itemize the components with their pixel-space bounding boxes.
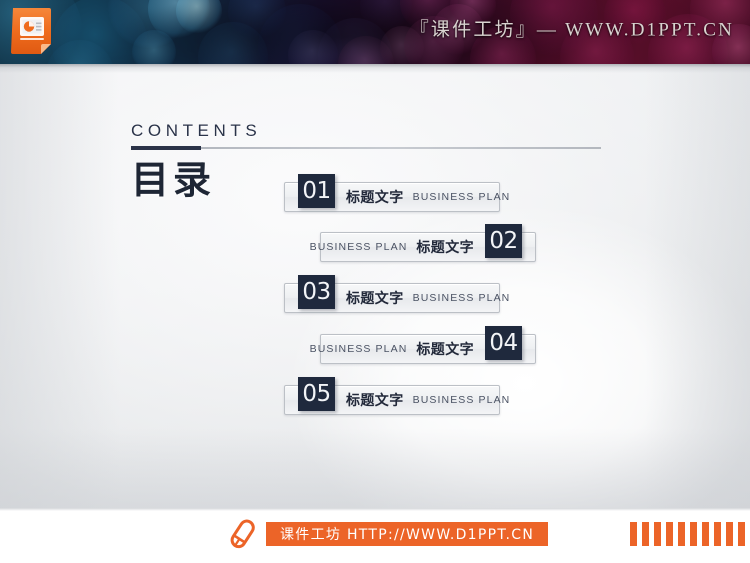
item-title-en: BUSINESS PLAN bbox=[310, 343, 408, 355]
item-title-en: BUSINESS PLAN bbox=[310, 241, 408, 253]
item-title-cn: 标题文字 bbox=[346, 187, 404, 207]
footer-stripe-pattern bbox=[630, 522, 750, 546]
item-title-cn: 标题文字 bbox=[346, 288, 404, 308]
item-title-en: BUSINESS PLAN bbox=[413, 191, 511, 203]
item-labels: 标题文字 BUSINESS PLAN bbox=[346, 182, 510, 212]
footer-top-edge bbox=[0, 508, 750, 511]
item-labels: 标题文字 BUSINESS PLAN bbox=[346, 385, 510, 415]
contents-item-05[interactable]: 05 标题文字 BUSINESS PLAN bbox=[284, 385, 500, 415]
presentation-slide: 『课件工坊』— WWW.D1PPT.CN CONTENTS 目录 01 标题文字… bbox=[0, 0, 750, 563]
item-title-cn: 标题文字 bbox=[416, 339, 474, 359]
footer-bar: 课件工坊 HTTP://WWW.D1PPT.CN bbox=[0, 508, 750, 563]
heading-divider-line bbox=[131, 147, 601, 149]
item-number-badge: 02 bbox=[485, 224, 522, 258]
contents-list: 01 标题文字 BUSINESS PLAN 02 BUSINESS PLAN 标… bbox=[0, 182, 750, 442]
item-labels: 标题文字 BUSINESS PLAN bbox=[346, 283, 510, 313]
contents-item-01[interactable]: 01 标题文字 BUSINESS PLAN bbox=[284, 182, 500, 212]
heading-divider bbox=[131, 146, 601, 150]
slide-body: CONTENTS 目录 01 标题文字 BUSINESS PLAN 02 bbox=[0, 64, 750, 508]
banner-drop-shadow bbox=[0, 64, 750, 73]
item-number-badge: 05 bbox=[298, 377, 335, 411]
item-title-en: BUSINESS PLAN bbox=[413, 292, 511, 304]
top-banner: 『课件工坊』— WWW.D1PPT.CN bbox=[0, 0, 750, 64]
contents-item-04[interactable]: 04 BUSINESS PLAN 标题文字 bbox=[320, 334, 536, 364]
item-number-badge: 01 bbox=[298, 174, 335, 208]
heading-divider-accent bbox=[131, 146, 201, 150]
powerpoint-logo-icon[interactable] bbox=[10, 6, 60, 58]
item-labels: BUSINESS PLAN 标题文字 bbox=[310, 232, 474, 262]
item-title-en: BUSINESS PLAN bbox=[413, 394, 511, 406]
item-number-badge: 04 bbox=[485, 326, 522, 360]
item-title-cn: 标题文字 bbox=[346, 390, 404, 410]
site-branding-text: 『课件工坊』— WWW.D1PPT.CN bbox=[410, 15, 734, 42]
pencil-icon bbox=[226, 517, 258, 551]
item-title-cn: 标题文字 bbox=[416, 237, 474, 257]
contents-eyebrow: CONTENTS bbox=[131, 122, 611, 139]
footer-url-text: 课件工坊 HTTP://WWW.D1PPT.CN bbox=[280, 524, 534, 544]
item-number-badge: 03 bbox=[298, 275, 335, 309]
contents-item-02[interactable]: 02 BUSINESS PLAN 标题文字 bbox=[320, 232, 536, 262]
footer-url-banner: 课件工坊 HTTP://WWW.D1PPT.CN bbox=[266, 522, 548, 546]
contents-item-03[interactable]: 03 标题文字 BUSINESS PLAN bbox=[284, 283, 500, 313]
item-labels: BUSINESS PLAN 标题文字 bbox=[310, 334, 474, 364]
